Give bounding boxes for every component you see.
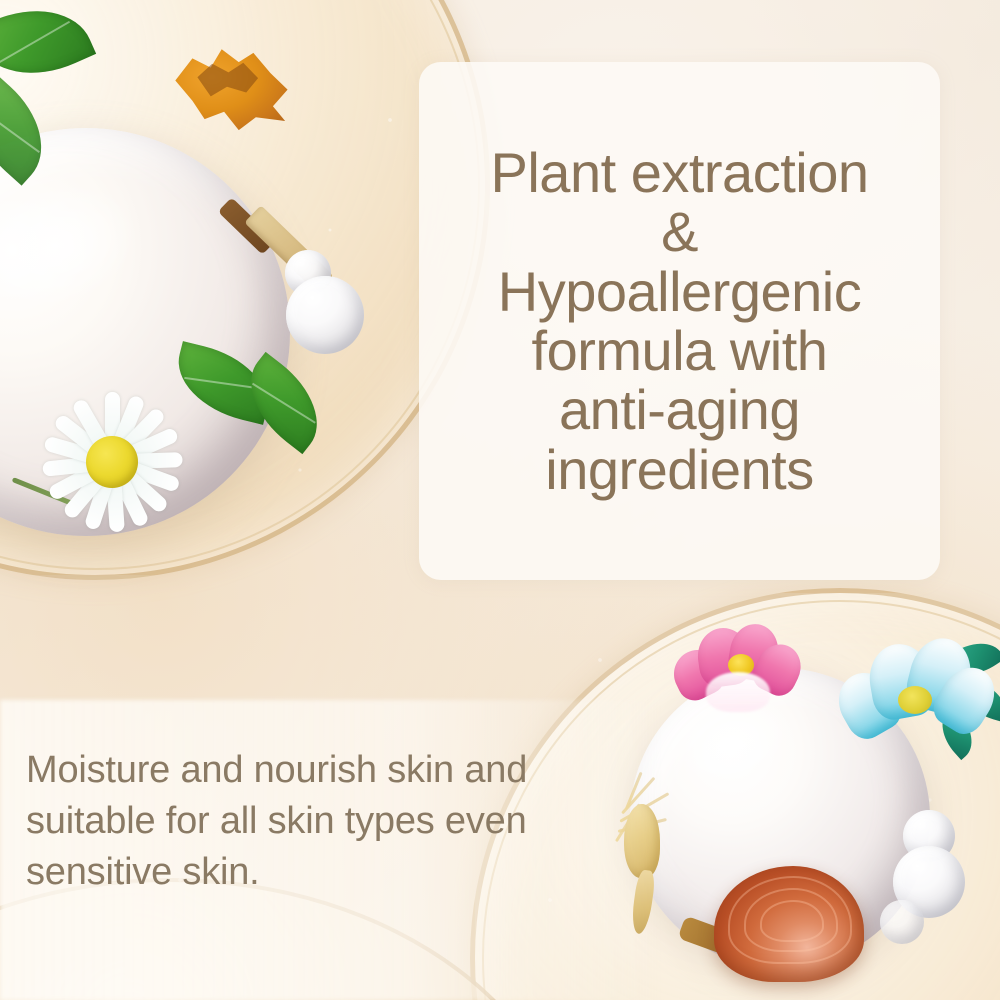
gel-bubble-medium (286, 276, 364, 354)
pink-peony-inner-petal (706, 672, 770, 712)
gel-bubble-small (880, 900, 924, 944)
body-copy-text: Moisture and nourish skin and suitable f… (26, 745, 616, 898)
headline-card: Plant extraction & Hypoallergenic formul… (419, 62, 940, 580)
blue-peony-center (898, 686, 932, 714)
blue-white-peony-flower-icon (836, 628, 996, 768)
reishi-mushroom-icon (714, 866, 864, 982)
chamomile-daisy-flower-icon (36, 386, 188, 538)
headline-text: Plant extraction & Hypoallergenic formul… (491, 143, 869, 499)
marketing-banner: Plant extraction & Hypoallergenic formul… (0, 0, 1000, 1000)
pink-peony-flower-icon (672, 620, 802, 708)
daisy-center (86, 436, 138, 488)
